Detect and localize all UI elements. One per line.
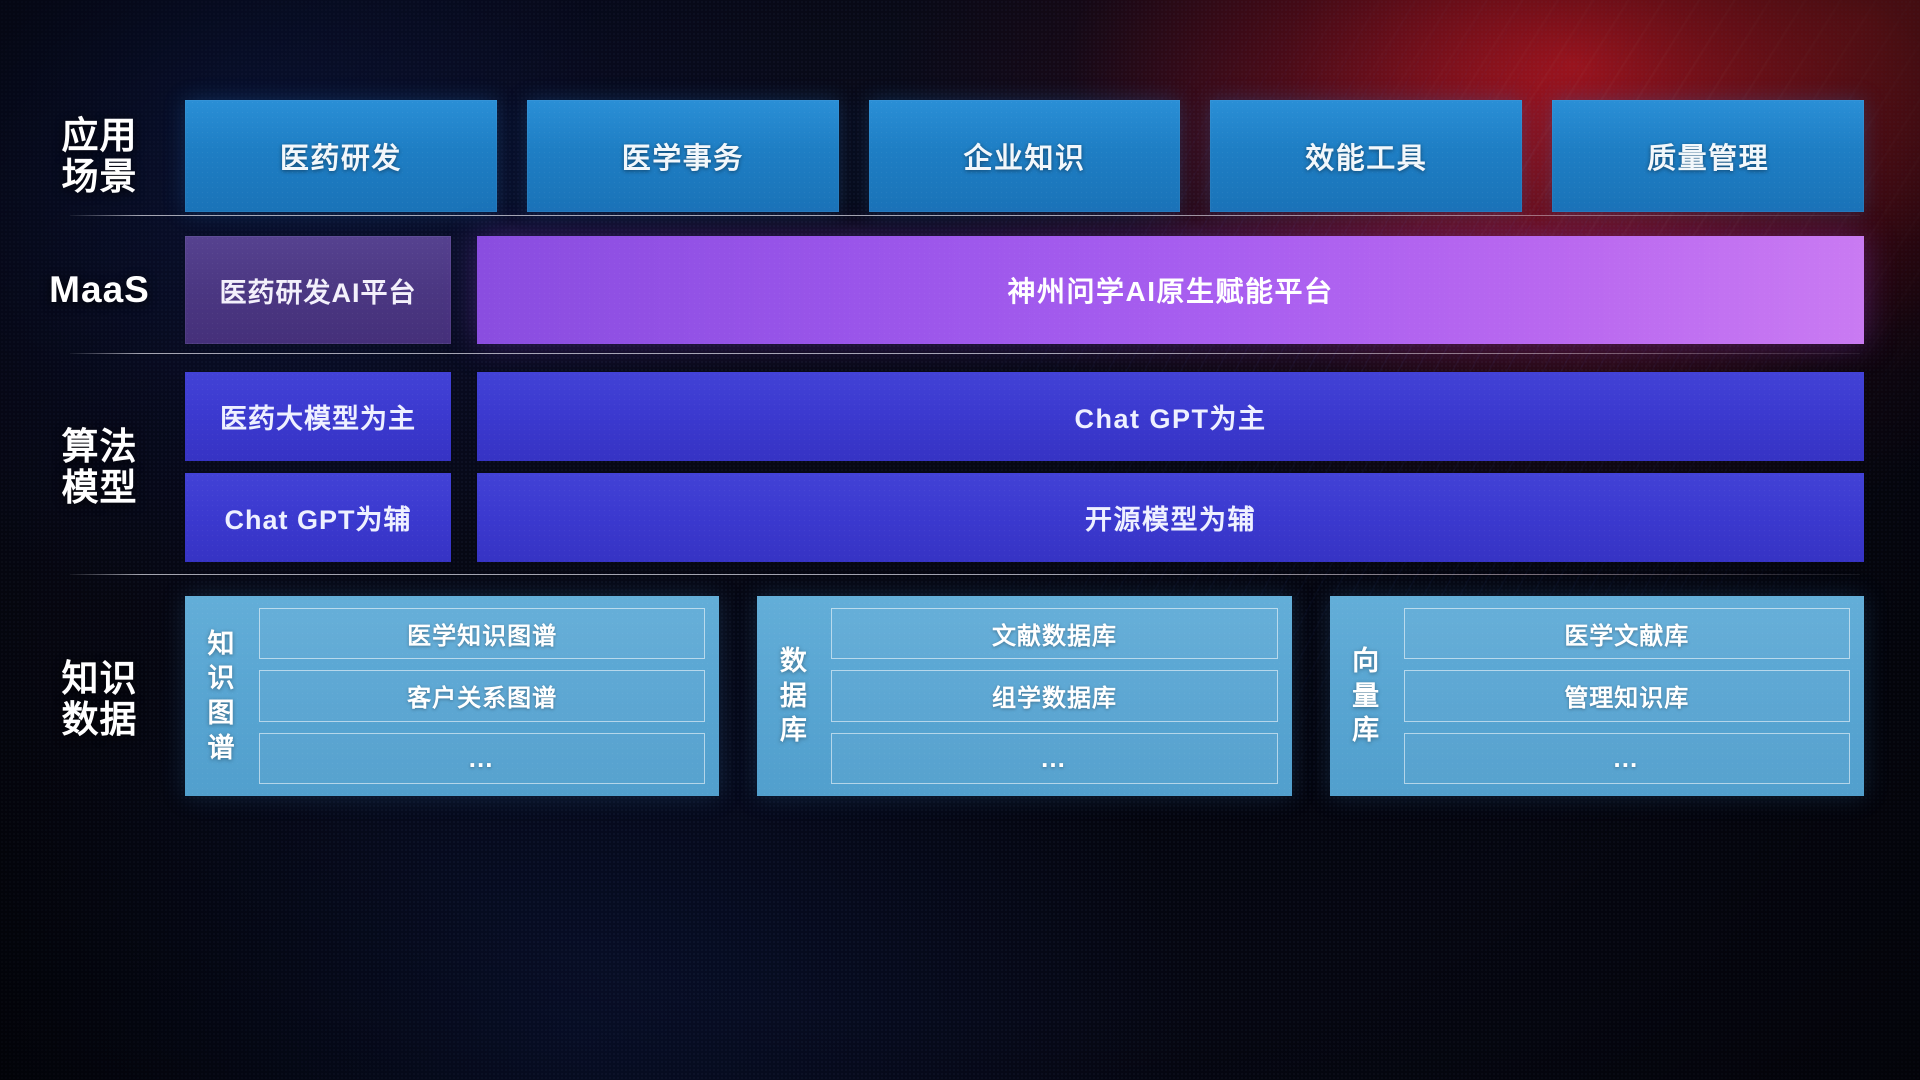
algorithm-card-group: 医药大模型为主 Chat GPT为主 Chat GPT为辅 开源模型为辅 (185, 372, 1920, 562)
algo-card-chatgpt-primary[interactable]: Chat GPT为主 (477, 372, 1864, 461)
vertical-label-char: 据 (780, 679, 807, 714)
row-algorithm-models: 算法 模型 医药大模型为主 Chat GPT为主 Chat GPT为辅 开源模型… (0, 372, 1920, 562)
algo-card-chatgpt-secondary[interactable]: Chat GPT为辅 (185, 473, 451, 562)
knowledge-item-management-knowledge-base[interactable]: 管理知识库 (1404, 670, 1850, 721)
row-label-line-2: 场景 (14, 156, 185, 197)
row-label-line-1: 应用 (14, 115, 185, 156)
vertical-label-char: 谱 (208, 731, 235, 766)
knowledge-panel-group: 知 识 图 谱 医学知识图谱 客户关系图谱 … 数 据 库 文 (185, 596, 1920, 796)
knowledge-item-literature-database[interactable]: 文献数据库 (831, 608, 1277, 659)
app-card-enterprise-knowledge[interactable]: 企业知识 (869, 100, 1181, 212)
vertical-label-char: 库 (1352, 713, 1379, 748)
row-label-line-1: 算法 (14, 426, 185, 467)
knowledge-item-omics-database[interactable]: 组学数据库 (831, 670, 1277, 721)
vertical-label-char: 知 (208, 627, 235, 662)
vertical-label-char: 识 (208, 661, 235, 696)
algo-card-pharma-llm-primary[interactable]: 医药大模型为主 (185, 372, 451, 461)
row-application-scenarios: 应用 场景 医药研发 医学事务 企业知识 效能工具 质量管理 (0, 100, 1920, 212)
row-label-knowledge-data: 知识 数据 (0, 596, 185, 741)
row-maas: MaaS 医药研发AI平台 神州问学AI原生赋能平台 (0, 236, 1920, 344)
algorithm-secondary-line: Chat GPT为辅 开源模型为辅 (185, 473, 1864, 562)
knowledge-panel-knowledge-graph[interactable]: 知 识 图 谱 医学知识图谱 客户关系图谱 … (185, 596, 719, 796)
architecture-diagram: 应用 场景 医药研发 医学事务 企业知识 效能工具 质量管理 MaaS 医药研发… (0, 0, 1920, 1080)
knowledge-item-list: 文献数据库 组学数据库 … (831, 608, 1277, 784)
knowledge-item-medical-literature-library[interactable]: 医学文献库 (1404, 608, 1850, 659)
application-card-group: 医药研发 医学事务 企业知识 效能工具 质量管理 (185, 100, 1920, 212)
row-label-application-scenarios: 应用 场景 (0, 115, 185, 198)
app-card-quality-management[interactable]: 质量管理 (1552, 100, 1864, 212)
row-label-line-2: 模型 (14, 467, 185, 508)
maas-card-drug-rd-ai-platform[interactable]: 医药研发AI平台 (185, 236, 451, 344)
knowledge-item-more[interactable]: … (259, 733, 705, 784)
maas-card-shenzhou-wenxue-platform[interactable]: 神州问学AI原生赋能平台 (477, 236, 1864, 344)
knowledge-panel-vertical-label-database: 数 据 库 (767, 608, 819, 784)
row-label-line-2: 数据 (14, 699, 185, 740)
row-knowledge-data: 知识 数据 知 识 图 谱 医学知识图谱 客户关系图谱 … 数 (0, 596, 1920, 816)
knowledge-item-list: 医学知识图谱 客户关系图谱 … (259, 608, 705, 784)
knowledge-panel-vertical-label-vector-store: 向 量 库 (1340, 608, 1392, 784)
knowledge-panel-vector-store[interactable]: 向 量 库 医学文献库 管理知识库 … (1330, 596, 1864, 796)
app-card-drug-rd[interactable]: 医药研发 (185, 100, 497, 212)
maas-card-group: 医药研发AI平台 神州问学AI原生赋能平台 (185, 236, 1920, 344)
algo-card-opensource-secondary[interactable]: 开源模型为辅 (477, 473, 1864, 562)
vertical-label-char: 数 (780, 644, 807, 679)
knowledge-item-more[interactable]: … (831, 733, 1277, 784)
app-card-efficiency-tools[interactable]: 效能工具 (1210, 100, 1522, 212)
knowledge-panel-database[interactable]: 数 据 库 文献数据库 组学数据库 … (757, 596, 1291, 796)
algorithm-primary-line: 医药大模型为主 Chat GPT为主 (185, 372, 1864, 461)
vertical-label-char: 库 (780, 713, 807, 748)
knowledge-item-list: 医学文献库 管理知识库 … (1404, 608, 1850, 784)
vertical-label-char: 图 (208, 696, 235, 731)
knowledge-item-medical-knowledge-graph[interactable]: 医学知识图谱 (259, 608, 705, 659)
divider-algorithm-knowledge (70, 574, 1860, 575)
row-label-line-1: 知识 (14, 658, 185, 699)
knowledge-panel-vertical-label-knowledge-graph: 知 识 图 谱 (195, 608, 247, 784)
divider-application-maas (70, 215, 1860, 216)
app-card-medical-affairs[interactable]: 医学事务 (527, 100, 839, 212)
row-label-algorithm-models: 算法 模型 (0, 426, 185, 509)
row-label-maas: MaaS (0, 269, 185, 310)
knowledge-item-more[interactable]: … (1404, 733, 1850, 784)
vertical-label-char: 向 (1352, 644, 1379, 679)
vertical-label-char: 量 (1352, 679, 1379, 714)
divider-maas-algorithm (70, 353, 1860, 354)
knowledge-item-customer-relation-graph[interactable]: 客户关系图谱 (259, 670, 705, 721)
